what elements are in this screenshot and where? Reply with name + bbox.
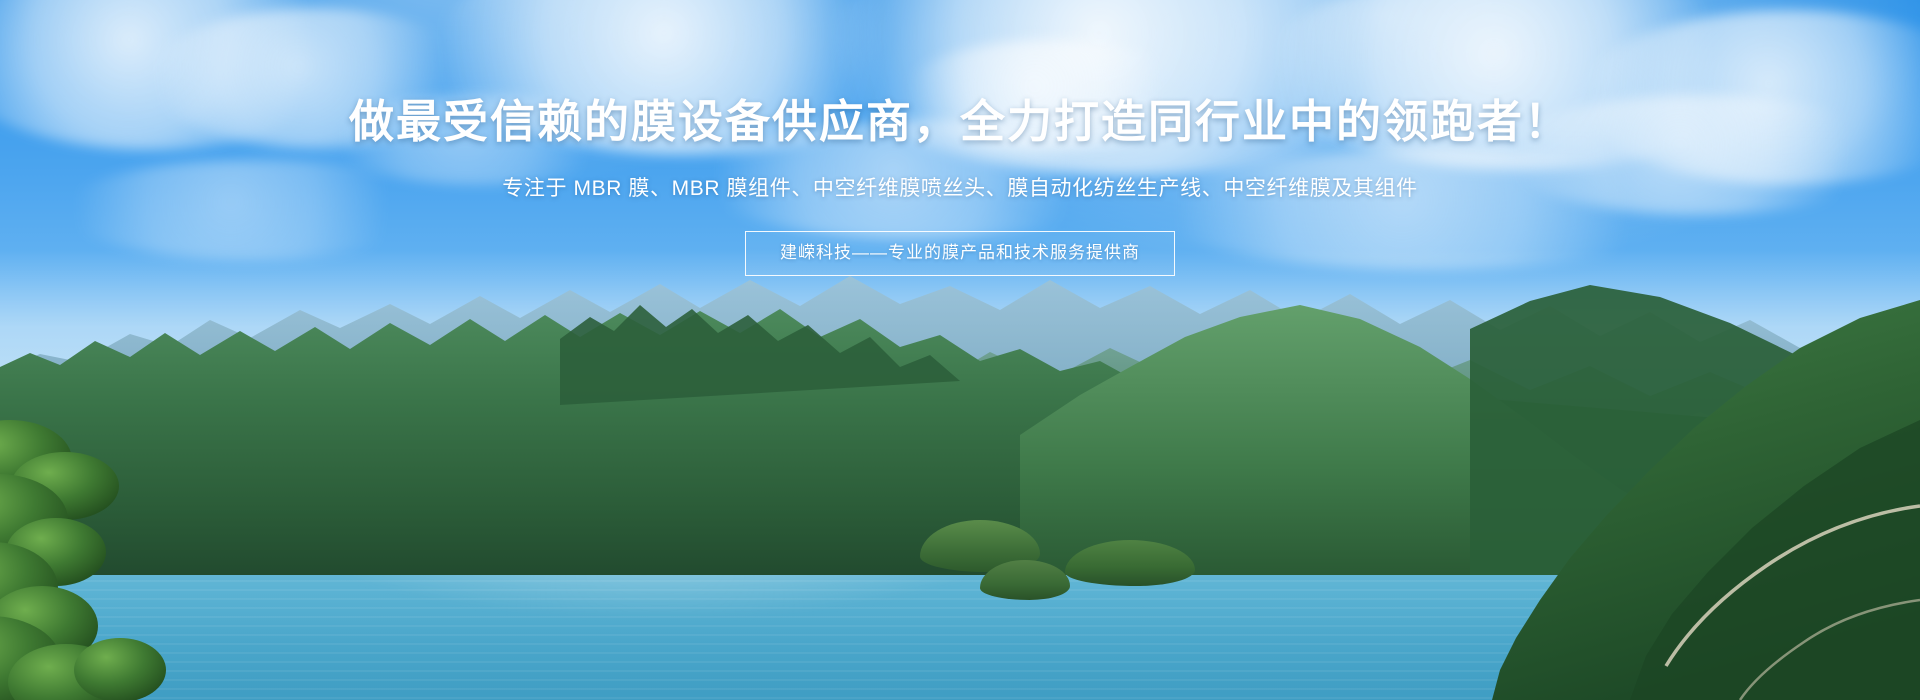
hero-banner: 做最受信赖的膜设备供应商，全力打造同行业中的领跑者！ 专注于 MBR 膜、MBR… bbox=[0, 0, 1920, 700]
foreground-hillside bbox=[1160, 300, 1920, 700]
hero-tagline-box: 建嵘科技——专业的膜产品和技术服务提供商 bbox=[745, 231, 1175, 275]
hero-text-block: 做最受信赖的膜设备供应商，全力打造同行业中的领跑者！ 专注于 MBR 膜、MBR… bbox=[0, 96, 1920, 276]
hero-tagline-container: 建嵘科技——专业的膜产品和技术服务提供商 bbox=[0, 231, 1920, 275]
foreground-tree-foliage bbox=[0, 420, 230, 700]
hero-headline: 做最受信赖的膜设备供应商，全力打造同行业中的领跑者！ bbox=[0, 96, 1920, 148]
hero-subtitle: 专注于 MBR 膜、MBR 膜组件、中空纤维膜喷丝头、膜自动化纺丝生产线、中空纤… bbox=[0, 174, 1920, 203]
